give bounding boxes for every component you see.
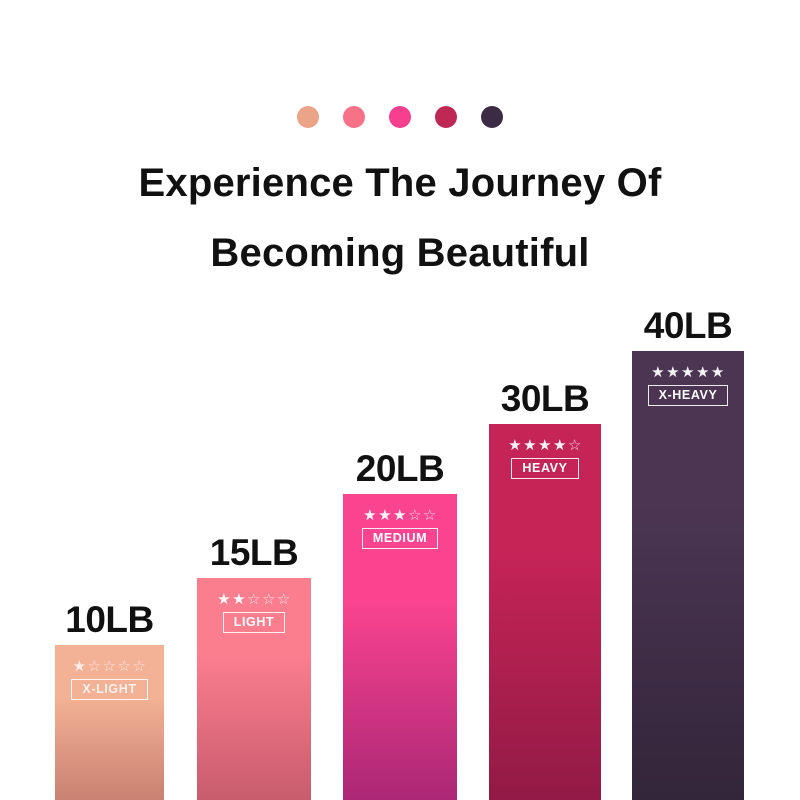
star-filled-icon: ★ [73, 659, 87, 674]
tier-badge-label: HEAVY [511, 458, 578, 479]
star-filled-icon: ★ [681, 365, 695, 380]
dot-heavy-icon [435, 106, 457, 128]
bar-badge: ★★★★★X-HEAVY [632, 365, 744, 406]
bar-value-label: 15LB [210, 532, 298, 574]
star-filled-icon: ★ [553, 438, 567, 453]
bar-value-label: 30LB [501, 378, 589, 420]
star-filled-icon: ★ [363, 508, 377, 523]
bar-badge: ★★★☆☆MEDIUM [343, 508, 457, 549]
tier-badge-label: LIGHT [223, 612, 286, 633]
headline-line-1: Experience The Journey Of [0, 148, 800, 218]
dot-light-icon [343, 106, 365, 128]
star-rating: ★★★★★ [651, 365, 725, 380]
star-filled-icon: ★ [538, 438, 552, 453]
bar-rect: ★★★☆☆MEDIUM [343, 494, 457, 800]
bar-value-label: 10LB [65, 599, 153, 641]
star-filled-icon: ★ [378, 508, 392, 523]
star-filled-icon: ★ [523, 438, 537, 453]
star-empty-icon: ☆ [568, 438, 582, 453]
star-filled-icon: ★ [711, 365, 725, 380]
star-filled-icon: ★ [393, 508, 407, 523]
star-rating: ★☆☆☆☆ [73, 659, 147, 674]
bar-rect: ★★★★★X-HEAVY [632, 351, 744, 800]
headline-line-2: Becoming Beautiful [0, 218, 800, 288]
dot-x-light-icon [297, 106, 319, 128]
bar-value-label: 40LB [644, 305, 732, 347]
star-filled-icon: ★ [696, 365, 710, 380]
bar-rect: ★★☆☆☆LIGHT [197, 578, 311, 800]
star-filled-icon: ★ [508, 438, 522, 453]
bar-value-label: 20LB [356, 448, 444, 490]
star-filled-icon: ★ [217, 592, 231, 607]
star-empty-icon: ☆ [262, 592, 276, 607]
star-empty-icon: ☆ [247, 592, 261, 607]
star-rating: ★★★★☆ [508, 438, 582, 453]
star-empty-icon: ☆ [103, 659, 117, 674]
star-empty-icon: ☆ [132, 659, 146, 674]
star-filled-icon: ★ [232, 592, 246, 607]
dot-medium-icon [389, 106, 411, 128]
bar-group-medium[interactable]: 20LB★★★☆☆MEDIUM [343, 494, 457, 800]
resistance-bar-chart: 10LB★☆☆☆☆X-LIGHT15LB★★☆☆☆LIGHT20LB★★★☆☆M… [0, 280, 800, 800]
star-rating: ★★☆☆☆ [217, 592, 291, 607]
star-empty-icon: ☆ [423, 508, 437, 523]
star-filled-icon: ★ [651, 365, 665, 380]
bar-rect: ★☆☆☆☆X-LIGHT [55, 645, 164, 800]
bar-group-heavy[interactable]: 30LB★★★★☆HEAVY [489, 424, 601, 800]
star-empty-icon: ☆ [277, 592, 291, 607]
star-empty-icon: ☆ [117, 659, 131, 674]
star-rating: ★★★☆☆ [363, 508, 437, 523]
tier-badge-label: X-HEAVY [648, 385, 729, 406]
star-empty-icon: ☆ [408, 508, 422, 523]
star-empty-icon: ☆ [88, 659, 102, 674]
page-title: Experience The Journey Of Becoming Beaut… [0, 148, 800, 288]
star-filled-icon: ★ [666, 365, 680, 380]
resistance-band-poster: Experience The Journey Of Becoming Beaut… [0, 0, 800, 800]
bar-group-x-light[interactable]: 10LB★☆☆☆☆X-LIGHT [55, 645, 164, 800]
tier-badge-label: MEDIUM [362, 528, 438, 549]
bar-badge: ★★☆☆☆LIGHT [197, 592, 311, 633]
bar-badge: ★☆☆☆☆X-LIGHT [55, 659, 164, 700]
bar-badge: ★★★★☆HEAVY [489, 438, 601, 479]
bar-group-light[interactable]: 15LB★★☆☆☆LIGHT [197, 578, 311, 800]
color-swatch-row [0, 106, 800, 128]
bar-group-x-heavy[interactable]: 40LB★★★★★X-HEAVY [632, 351, 744, 800]
bar-rect: ★★★★☆HEAVY [489, 424, 601, 800]
tier-badge-label: X-LIGHT [71, 679, 147, 700]
dot-x-heavy-icon [481, 106, 503, 128]
